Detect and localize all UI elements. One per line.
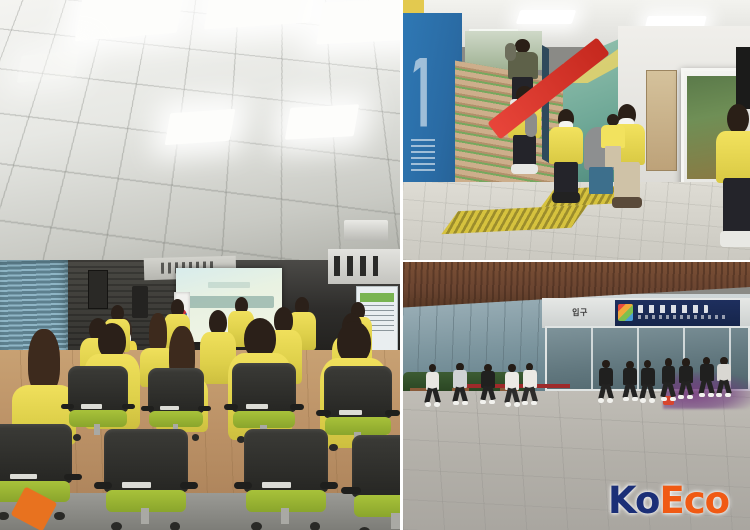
- person-leg: [431, 388, 440, 404]
- person-shoe: [522, 401, 528, 405]
- person-shoe: [489, 400, 495, 404]
- person-shoe: [716, 393, 722, 397]
- chair-armrest: [385, 410, 400, 416]
- person-legs: [723, 178, 750, 235]
- person-leg: [529, 386, 538, 402]
- chair: [244, 429, 328, 530]
- evacuee-figure: [549, 109, 584, 203]
- wall-monitor: [736, 47, 750, 109]
- chair-armrest: [141, 406, 153, 411]
- chair-caster: [192, 434, 199, 440]
- chair-caster: [0, 512, 9, 521]
- person-shoe: [607, 398, 613, 402]
- running-person: [715, 357, 732, 397]
- person-shoes: [552, 192, 580, 202]
- panel-divider-vertical: [400, 0, 403, 530]
- chair-label: [246, 404, 268, 409]
- chair-caster: [54, 512, 64, 521]
- chair-caster: [310, 522, 321, 530]
- banner-logo-icon: [618, 304, 633, 322]
- person-shoe: [531, 401, 537, 405]
- running-person: [521, 363, 538, 406]
- person-shoe: [632, 397, 638, 401]
- person-shoes: [511, 164, 539, 174]
- logo-text-eco: Eco: [659, 479, 729, 522]
- chair-post: [141, 508, 149, 524]
- chair-armrest: [234, 482, 252, 489]
- chair-caster: [170, 522, 181, 530]
- banner-subtext: [638, 315, 725, 318]
- running-person: [639, 360, 656, 403]
- chair-armrest: [320, 482, 338, 489]
- running-person: [452, 363, 469, 406]
- running-person: [622, 361, 639, 401]
- person-jacket: [601, 125, 624, 148]
- evacuee-figure: [715, 104, 750, 247]
- running-person: [479, 364, 496, 404]
- chair-caster: [251, 522, 262, 530]
- chair-armrest: [341, 487, 360, 494]
- chair-armrest: [316, 410, 331, 416]
- chair-armrest: [224, 404, 238, 410]
- chair-label: [122, 482, 151, 488]
- person-leg: [487, 386, 495, 401]
- person-shoe: [708, 393, 714, 397]
- person-jacket: [549, 127, 582, 164]
- running-person: [677, 358, 694, 398]
- room-signage: [328, 249, 400, 283]
- person-jacket: [716, 131, 750, 182]
- wall-speaker: [88, 270, 108, 309]
- ceiling-light: [285, 104, 359, 139]
- person-shoe: [514, 402, 520, 406]
- running-person: [504, 364, 521, 407]
- person-shoe: [453, 401, 459, 405]
- person-torso: [523, 370, 537, 388]
- person-leg: [605, 383, 614, 399]
- evacuee-figure: [601, 114, 625, 171]
- chair-post: [281, 508, 289, 524]
- panel-divider-horizontal: [400, 260, 750, 262]
- chair-caster: [329, 444, 338, 452]
- person-leg: [647, 383, 656, 399]
- photo-collage: 입구 KoEco: [0, 0, 750, 530]
- person-torso: [453, 370, 467, 388]
- chair-label: [10, 474, 37, 480]
- chair: [352, 435, 400, 530]
- chair-armrest: [180, 482, 198, 489]
- logo-text-ko: Ko: [608, 479, 659, 522]
- person-shoe: [480, 400, 486, 404]
- stairwell-evacuation-photo: [403, 0, 750, 260]
- person-leg: [459, 386, 468, 402]
- ceiling-light: [165, 109, 236, 145]
- person-shoe: [725, 393, 731, 397]
- person-leg: [511, 388, 520, 404]
- chair-armrest: [94, 482, 112, 489]
- ceiling-projector: [344, 220, 388, 241]
- person-legs: [513, 135, 537, 167]
- person-legs: [605, 146, 622, 167]
- chair-label: [339, 410, 362, 415]
- corridor-door: [646, 70, 677, 171]
- person-shoe: [670, 397, 676, 401]
- person-shoe: [425, 402, 431, 406]
- running-person: [424, 364, 441, 407]
- person-shoe: [434, 402, 440, 406]
- person-shoe: [623, 397, 629, 401]
- person-shoe: [462, 401, 468, 405]
- chair-armrest: [198, 406, 210, 411]
- running-person: [597, 360, 614, 403]
- chair-label: [160, 406, 179, 410]
- chair-post: [94, 424, 100, 436]
- chair-armrest: [290, 404, 304, 410]
- person-shoe: [598, 398, 604, 402]
- person-shoe: [505, 402, 511, 406]
- running-person: [660, 358, 677, 401]
- person-legs: [554, 162, 578, 196]
- chair-armrest: [64, 474, 82, 481]
- person-leg: [685, 381, 693, 396]
- person-shoe: [661, 397, 667, 401]
- chair-armrest: [61, 404, 74, 409]
- person-shoe: [678, 395, 684, 399]
- person-shoe: [687, 395, 693, 399]
- person-leg: [706, 379, 714, 394]
- person-shoe: [649, 398, 655, 402]
- person-shoes: [720, 231, 750, 247]
- person-leg: [667, 382, 676, 398]
- running-person: [698, 357, 715, 397]
- entrance-sign: 입구: [563, 304, 598, 323]
- floor-marker-subtext: [411, 139, 435, 171]
- koeco-logo: KoEco: [608, 482, 729, 519]
- room-signage-text: [334, 256, 379, 276]
- backpack: [505, 43, 517, 61]
- chair-post: [391, 513, 400, 529]
- chair: [104, 429, 188, 530]
- person-shoe: [699, 393, 705, 397]
- ceiling-light: [316, 0, 400, 45]
- slide-subtitle: [208, 282, 250, 287]
- person-shoe: [640, 398, 646, 402]
- floor-number-marker: [410, 58, 437, 127]
- training-room-photo: [0, 0, 400, 530]
- chair-caster: [73, 434, 81, 441]
- person-leg: [629, 383, 637, 398]
- chair-armrest: [122, 404, 135, 409]
- person-head: [727, 104, 749, 134]
- chair-label: [262, 482, 291, 488]
- chair-label: [81, 404, 101, 408]
- ceiling-light: [515, 10, 575, 24]
- person-shoes: [612, 197, 643, 208]
- campaign-banner: [615, 300, 740, 327]
- person-leg: [723, 379, 731, 394]
- banner-headline-text: [638, 305, 708, 313]
- chair-caster: [111, 522, 122, 530]
